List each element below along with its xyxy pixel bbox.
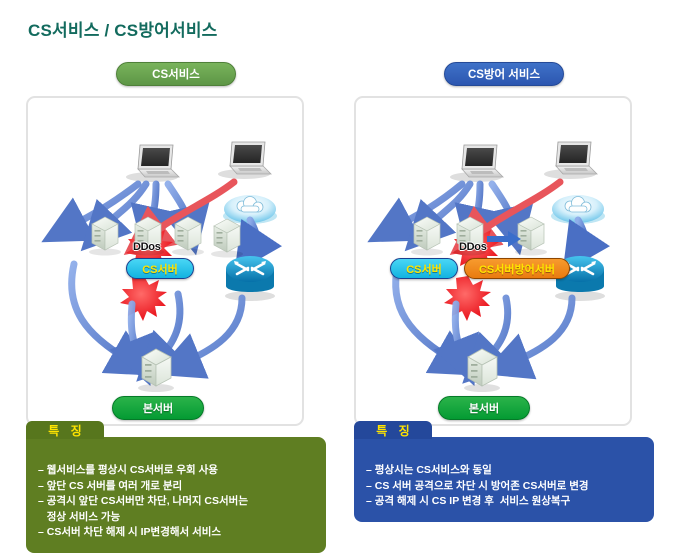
main-server-label: 본서버 [112,396,204,420]
laptop-icon [218,142,271,179]
list-item: – CS서버 차단 해제 시 IP변경해서 서비스 [38,525,314,541]
main-server-icon [464,349,500,392]
feature-tab-label: 특 징 [26,421,104,439]
cloud-router-arrow [578,220,584,250]
feature-box-cs-service: 특 징 – 웹서비스를 평상시 CS서버로 우회 사용 – 앞단 CS 서버를 … [26,437,326,553]
ddos-label: DDos [133,241,161,253]
feature-list: – 웹서비스를 평상시 CS서버로 우회 사용 – 앞단 CS 서버를 여러 개… [38,463,314,541]
cloud-router-arrow [250,220,256,250]
list-item: – 평상시는 CS서비스와 동일 [366,463,642,479]
feature-list: – 평상시는 CS서비스와 동일 – CS 서버 공격으로 차단 시 방어존 C… [366,463,642,510]
server-rack-icon [172,217,204,256]
column-cs-service: CS서비스 [26,62,326,426]
diagram-panel-cs-defense-service: DDos CS서버 CS서버방어서버 본서버 [354,96,632,426]
header-pill-cs-defense-service: CS방어 서비스 [444,62,564,86]
server-rack-icon [411,217,443,256]
list-item: – 웹서비스를 평상시 CS서버로 우회 사용 [38,463,314,479]
block-burst-icon [120,276,167,321]
router-icon [225,256,275,301]
laptop-icon [544,142,597,179]
diagram-panel-cs-service: DDos CS서버 본서버 [26,96,304,426]
feature-tab-label: 특 징 [354,421,432,439]
main-server-label: 본서버 [438,396,530,420]
main-server-icon [138,349,174,392]
traffic-arrows-converge [396,264,572,364]
header-pill-cs-service: CS서비스 [116,62,236,86]
cs-server-label: CS서버 [390,258,458,279]
feature-box-cs-defense-service: 특 징 – 평상시는 CS서비스와 동일 – CS 서버 공격으로 차단 시 방… [354,437,654,522]
server-rack-icon [515,217,547,256]
block-burst-icon [444,276,491,321]
list-item: – 앞단 CS 서버를 여러 개로 분리 [38,479,314,495]
ddos-label: DDos [459,241,487,253]
cs-server-label: CS서버 [126,258,194,279]
server-rack-icon [211,219,243,258]
laptop-icon [126,145,179,182]
list-item: – 공격시 앞단 CS서버만 차단, 나머지 CS서버는 정상 서비스 가능 [38,494,314,525]
server-rack-icon [89,217,121,256]
list-item: – CS 서버 공격으로 차단 시 방어존 CS서버로 변경 [366,479,642,495]
defense-server-label: CS서버방어서버 [464,258,570,279]
list-item: – 공격 해제 시 CS IP 변경 후 서비스 원상복구 [366,494,642,510]
laptop-icon [450,145,503,182]
column-cs-defense-service: CS방어 서비스 [354,62,654,426]
page-title: CS서비스 / CS방어서비스 [28,16,218,41]
